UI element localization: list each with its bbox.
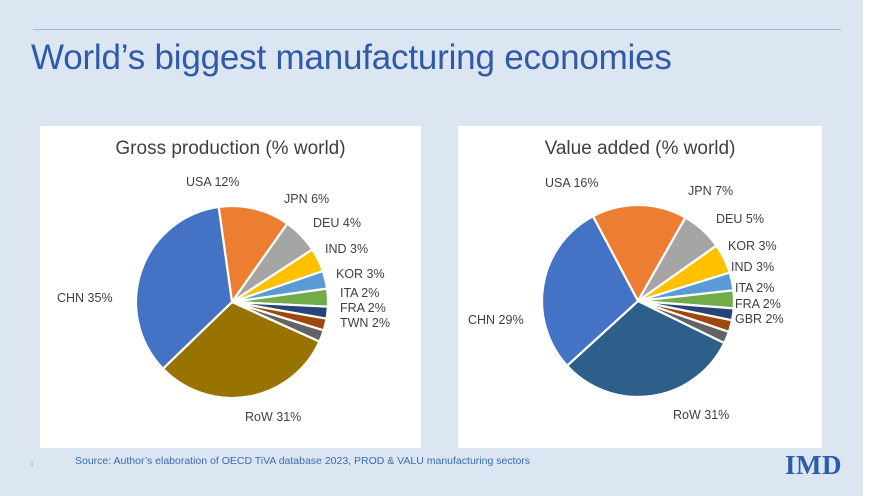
- slice-label-ita: ITA 2%: [340, 286, 379, 300]
- slice-label-row: RoW 31%: [245, 410, 301, 424]
- imd-logo: IMD: [785, 450, 842, 481]
- slice-label-fra: FRA 2%: [735, 297, 781, 311]
- page-number: 1: [30, 461, 34, 468]
- source-note: Source: Author’s elaboration of OECD TiV…: [75, 455, 530, 467]
- slice-label-chn: CHN 29%: [468, 313, 524, 327]
- title-divider-rule: [33, 29, 841, 30]
- slice-label-kor: KOR 3%: [336, 267, 385, 281]
- slice-label-deu: DEU 4%: [313, 216, 361, 230]
- slice-label-row: RoW 31%: [673, 408, 729, 422]
- slide-canvas: World’s biggest manufacturing economies …: [0, 0, 880, 496]
- slice-label-fra: FRA 2%: [340, 301, 386, 315]
- page-title: World’s biggest manufacturing economies: [31, 38, 831, 78]
- chart-card-gross-production: Gross production (% world) USA 12% JPN 6…: [40, 126, 421, 448]
- slice-label-chn: CHN 35%: [57, 291, 113, 305]
- slice-label-twn: TWN 2%: [340, 316, 390, 330]
- slice-label-ind: IND 3%: [731, 260, 774, 274]
- slice-label-usa: USA 12%: [186, 175, 240, 189]
- slice-label-usa: USA 16%: [545, 176, 599, 190]
- slice-label-ind: IND 3%: [325, 242, 368, 256]
- slice-label-jpn: JPN 6%: [284, 192, 329, 206]
- slide-right-edge-strip: [863, 0, 880, 496]
- slice-label-kor: KOR 3%: [728, 239, 777, 253]
- slice-label-gbr: GBR 2%: [735, 312, 784, 326]
- slice-label-deu: DEU 5%: [716, 212, 764, 226]
- chart-card-value-added: Value added (% world) USA 16% JPN 7% DEU…: [458, 126, 822, 448]
- slice-label-jpn: JPN 7%: [688, 184, 733, 198]
- slice-label-ita: ITA 2%: [735, 281, 774, 295]
